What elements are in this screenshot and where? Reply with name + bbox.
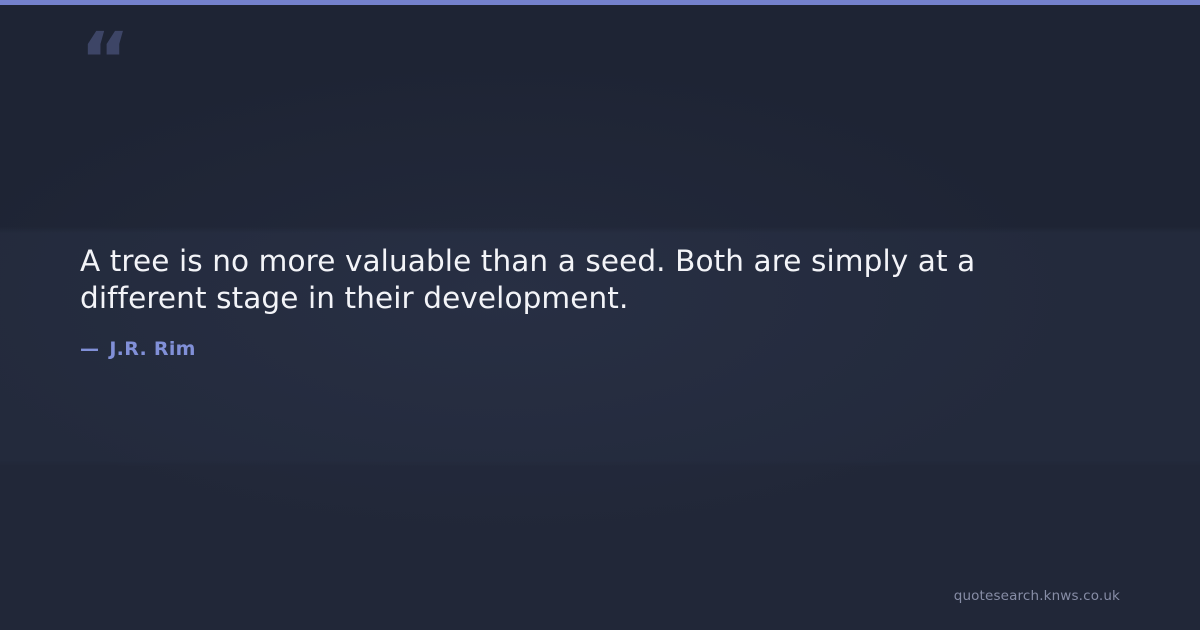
top-accent-bar bbox=[0, 0, 1200, 5]
attribution-dash: — bbox=[80, 338, 99, 360]
open-quote-icon: “ bbox=[80, 22, 128, 98]
attribution: — J.R. Rim bbox=[80, 338, 196, 360]
attribution-author: J.R. Rim bbox=[109, 338, 195, 360]
quote-card: “ A tree is no more valuable than a seed… bbox=[0, 0, 1200, 630]
site-watermark: quotesearch.knws.co.uk bbox=[954, 588, 1120, 604]
quote-text: A tree is no more valuable than a seed. … bbox=[80, 243, 1065, 317]
quote-content: “ A tree is no more valuable than a seed… bbox=[80, 0, 1120, 630]
